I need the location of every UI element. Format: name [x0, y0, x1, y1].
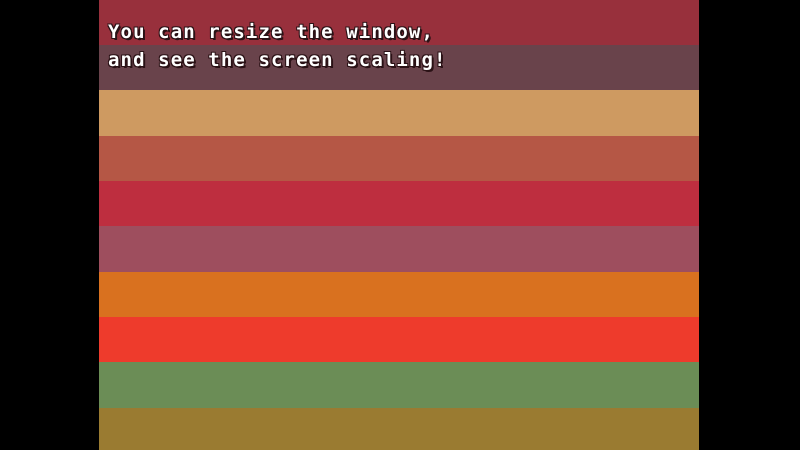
band-crimson — [99, 181, 699, 226]
band-dark-red — [99, 0, 699, 45]
band-green — [99, 362, 699, 408]
band-red-orange — [99, 317, 699, 362]
band-mauve — [99, 226, 699, 272]
band-tan — [99, 90, 699, 136]
band-olive — [99, 408, 699, 450]
band-brick — [99, 136, 699, 181]
band-orange — [99, 272, 699, 317]
band-plum — [99, 45, 699, 90]
letterbox-bar-right — [699, 0, 800, 450]
app-window: You can resize the window, and see the s… — [0, 0, 800, 450]
game-viewport[interactable]: You can resize the window, and see the s… — [99, 0, 699, 450]
letterbox-bar-left — [0, 0, 99, 450]
